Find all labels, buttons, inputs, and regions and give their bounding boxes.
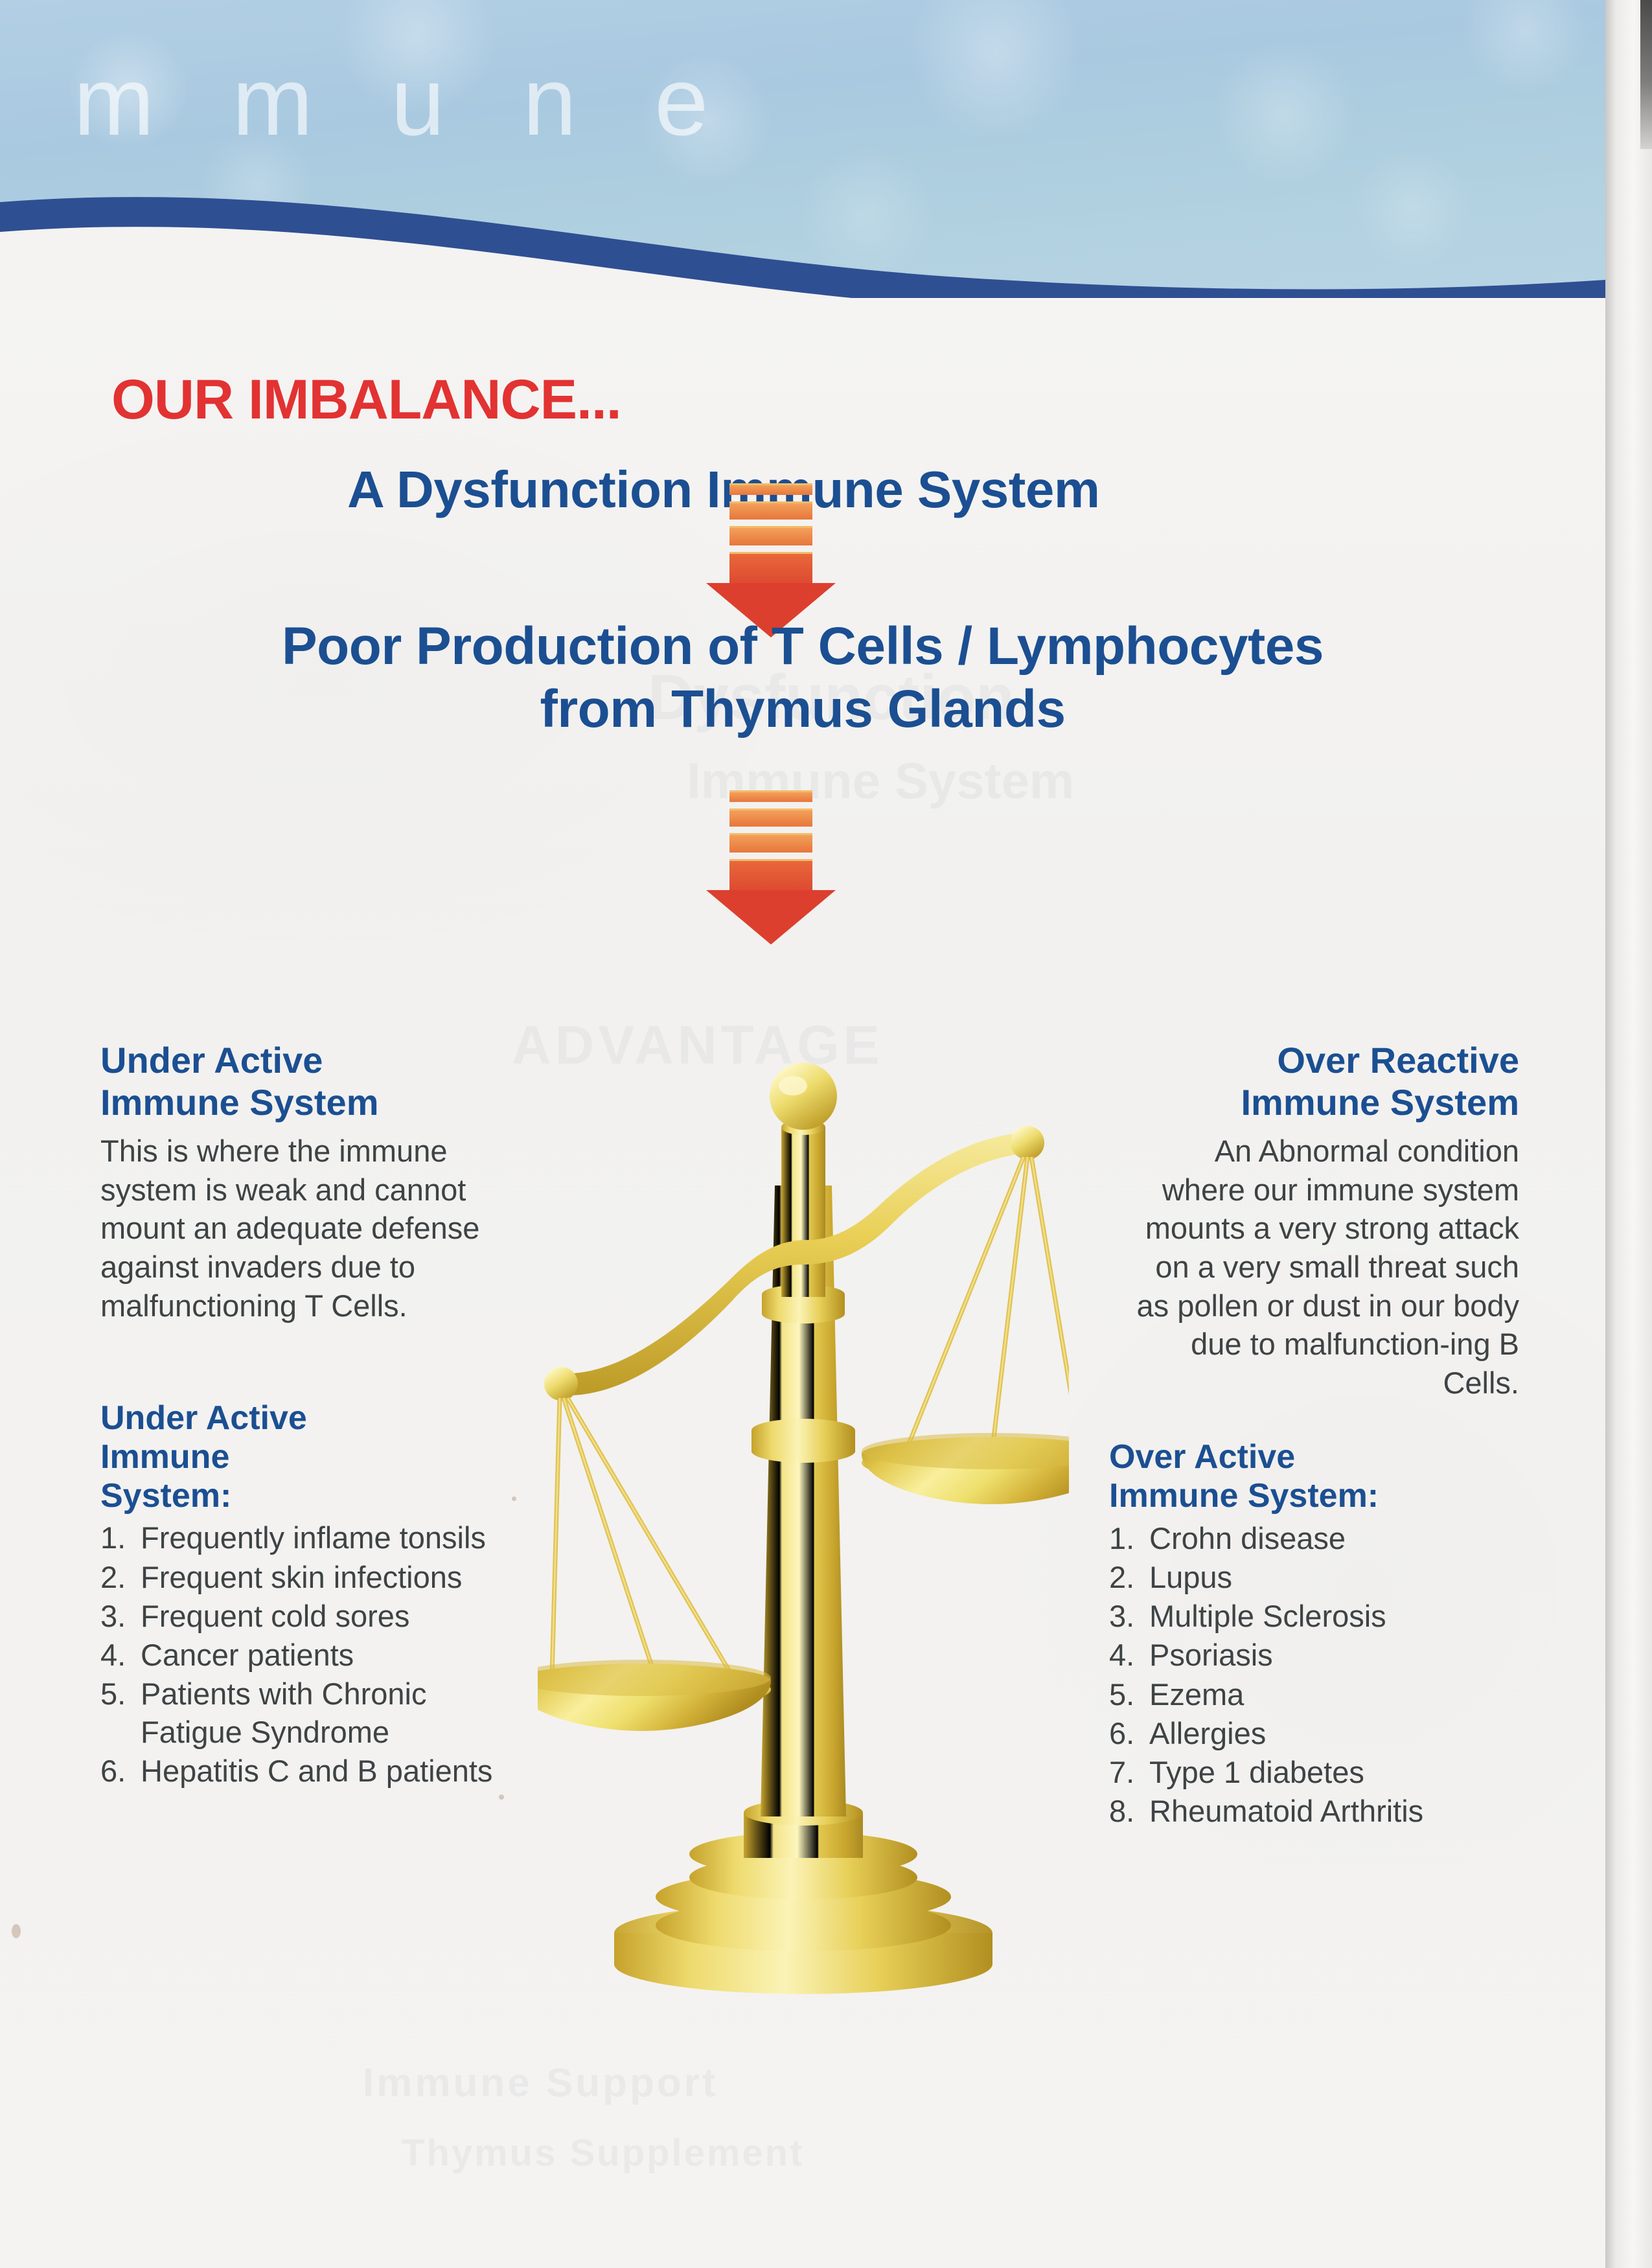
over-active-list-heading-line1: Over Active — [1109, 1438, 1524, 1477]
over-reactive-heading: Over Reactive Immune System — [1130, 1040, 1519, 1124]
over-reactive-heading-line2: Immune System — [1130, 1082, 1519, 1124]
list-item-text: Psoriasis — [1149, 1636, 1524, 1674]
scan-speck — [12, 1924, 21, 1938]
scan-speck — [499, 1794, 504, 1800]
ghost-text-5: Thymus Supplement — [402, 2131, 804, 2175]
list-item-text: Cancer patients — [141, 1636, 502, 1674]
list-item: 8.Rheumatoid Arthritis — [1109, 1793, 1524, 1830]
list-item: 4.Psoriasis — [1109, 1636, 1524, 1674]
page-title-eyebrow: OUR IMBALANCE... — [111, 368, 621, 432]
under-active-body: This is where the immune system is weak … — [100, 1132, 496, 1325]
under-active-list-heading-line1: Under Active — [100, 1399, 502, 1438]
under-active-heading-line1: Under Active — [100, 1040, 496, 1082]
list-item-text: Frequent cold sores — [141, 1598, 502, 1635]
under-active-heading: Under Active Immune System — [100, 1040, 496, 1124]
list-item: 7.Type 1 diabetes — [1109, 1754, 1524, 1791]
header-watermark-text: immune — [0, 45, 1605, 157]
under-active-list-heading-line2: Immune — [100, 1438, 502, 1477]
over-active-disease-list: 1.Crohn disease 2.Lupus 3.Multiple Scler… — [1109, 1520, 1524, 1831]
list-item-text: Crohn disease — [1149, 1520, 1524, 1557]
under-active-list-heading-line3: System: — [100, 1477, 502, 1516]
list-item: 2.Lupus — [1109, 1559, 1524, 1596]
middle-statement-line2: from Thymus Glands — [0, 678, 1605, 741]
over-reactive-body: An Abnormal condition where our immune s… — [1130, 1132, 1519, 1403]
under-active-column: Under Active Immune System This is where… — [100, 1040, 496, 1325]
list-item: 5.Ezema — [1109, 1676, 1524, 1713]
list-item: 6.Allergies — [1109, 1715, 1524, 1752]
list-item: 2.Frequent skin infections — [100, 1559, 502, 1596]
under-active-list-heading: Under Active Immune System: — [100, 1399, 502, 1515]
ghost-text-4: Immune Support — [363, 2060, 718, 2106]
under-active-heading-line2: Immune System — [100, 1082, 496, 1124]
page-gutter — [1605, 0, 1652, 2268]
scanned-sheet: immune Dysfunction Immune System ADVANTA… — [0, 0, 1605, 2268]
under-active-list-block: Under Active Immune System: 1.Frequently… — [100, 1399, 502, 1791]
page-header: immune — [0, 0, 1605, 298]
list-item: 5.Patients with Chronic Fatigue Syndrome — [100, 1675, 502, 1751]
gutter-shadow — [1640, 0, 1652, 149]
list-item-text: Type 1 diabetes — [1149, 1754, 1524, 1791]
list-item-text: Multiple Sclerosis — [1149, 1598, 1524, 1635]
list-item-text: Rheumatoid Arthritis — [1149, 1793, 1524, 1830]
balance-scale-icon — [538, 1024, 1069, 1995]
list-item: 1.Frequently inflame tonsils — [100, 1519, 502, 1557]
list-item-text: Ezema — [1149, 1676, 1524, 1713]
middle-statement-line1: Poor Production of T Cells / Lymphocytes — [0, 615, 1605, 678]
under-active-symptom-list: 1.Frequently inflame tonsils 2.Frequent … — [100, 1519, 502, 1790]
list-item-text: Frequently inflame tonsils — [141, 1519, 502, 1557]
poster-page: immune Dysfunction Immune System ADVANTA… — [0, 0, 1652, 2268]
list-item: 1.Crohn disease — [1109, 1520, 1524, 1557]
list-item-text: Lupus — [1149, 1559, 1524, 1596]
over-active-list-block: Over Active Immune System: 1.Crohn disea… — [1109, 1438, 1524, 1832]
over-reactive-column: Over Reactive Immune System An Abnormal … — [1130, 1040, 1519, 1403]
list-item: 6.Hepatitis C and B patients — [100, 1752, 502, 1790]
scan-speck — [512, 1496, 516, 1501]
list-item-text: Patients with Chronic Fatigue Syndrome — [141, 1675, 502, 1751]
over-active-list-heading-line2: Immune System: — [1109, 1477, 1524, 1516]
middle-statement: Poor Production of T Cells / Lymphocytes… — [0, 615, 1605, 741]
down-arrow-icon — [706, 483, 836, 637]
list-item-text: Frequent skin infections — [141, 1559, 502, 1596]
list-item: 3.Frequent cold sores — [100, 1598, 502, 1635]
over-active-list-heading: Over Active Immune System: — [1109, 1438, 1524, 1516]
list-item-text: Allergies — [1149, 1715, 1524, 1752]
over-reactive-heading-line1: Over Reactive — [1130, 1040, 1519, 1082]
down-arrow-icon — [706, 790, 836, 945]
header-wave-divider — [0, 194, 1605, 298]
list-item: 4.Cancer patients — [100, 1636, 502, 1674]
list-item: 3.Multiple Sclerosis — [1109, 1598, 1524, 1635]
list-item-text: Hepatitis C and B patients — [141, 1752, 502, 1790]
